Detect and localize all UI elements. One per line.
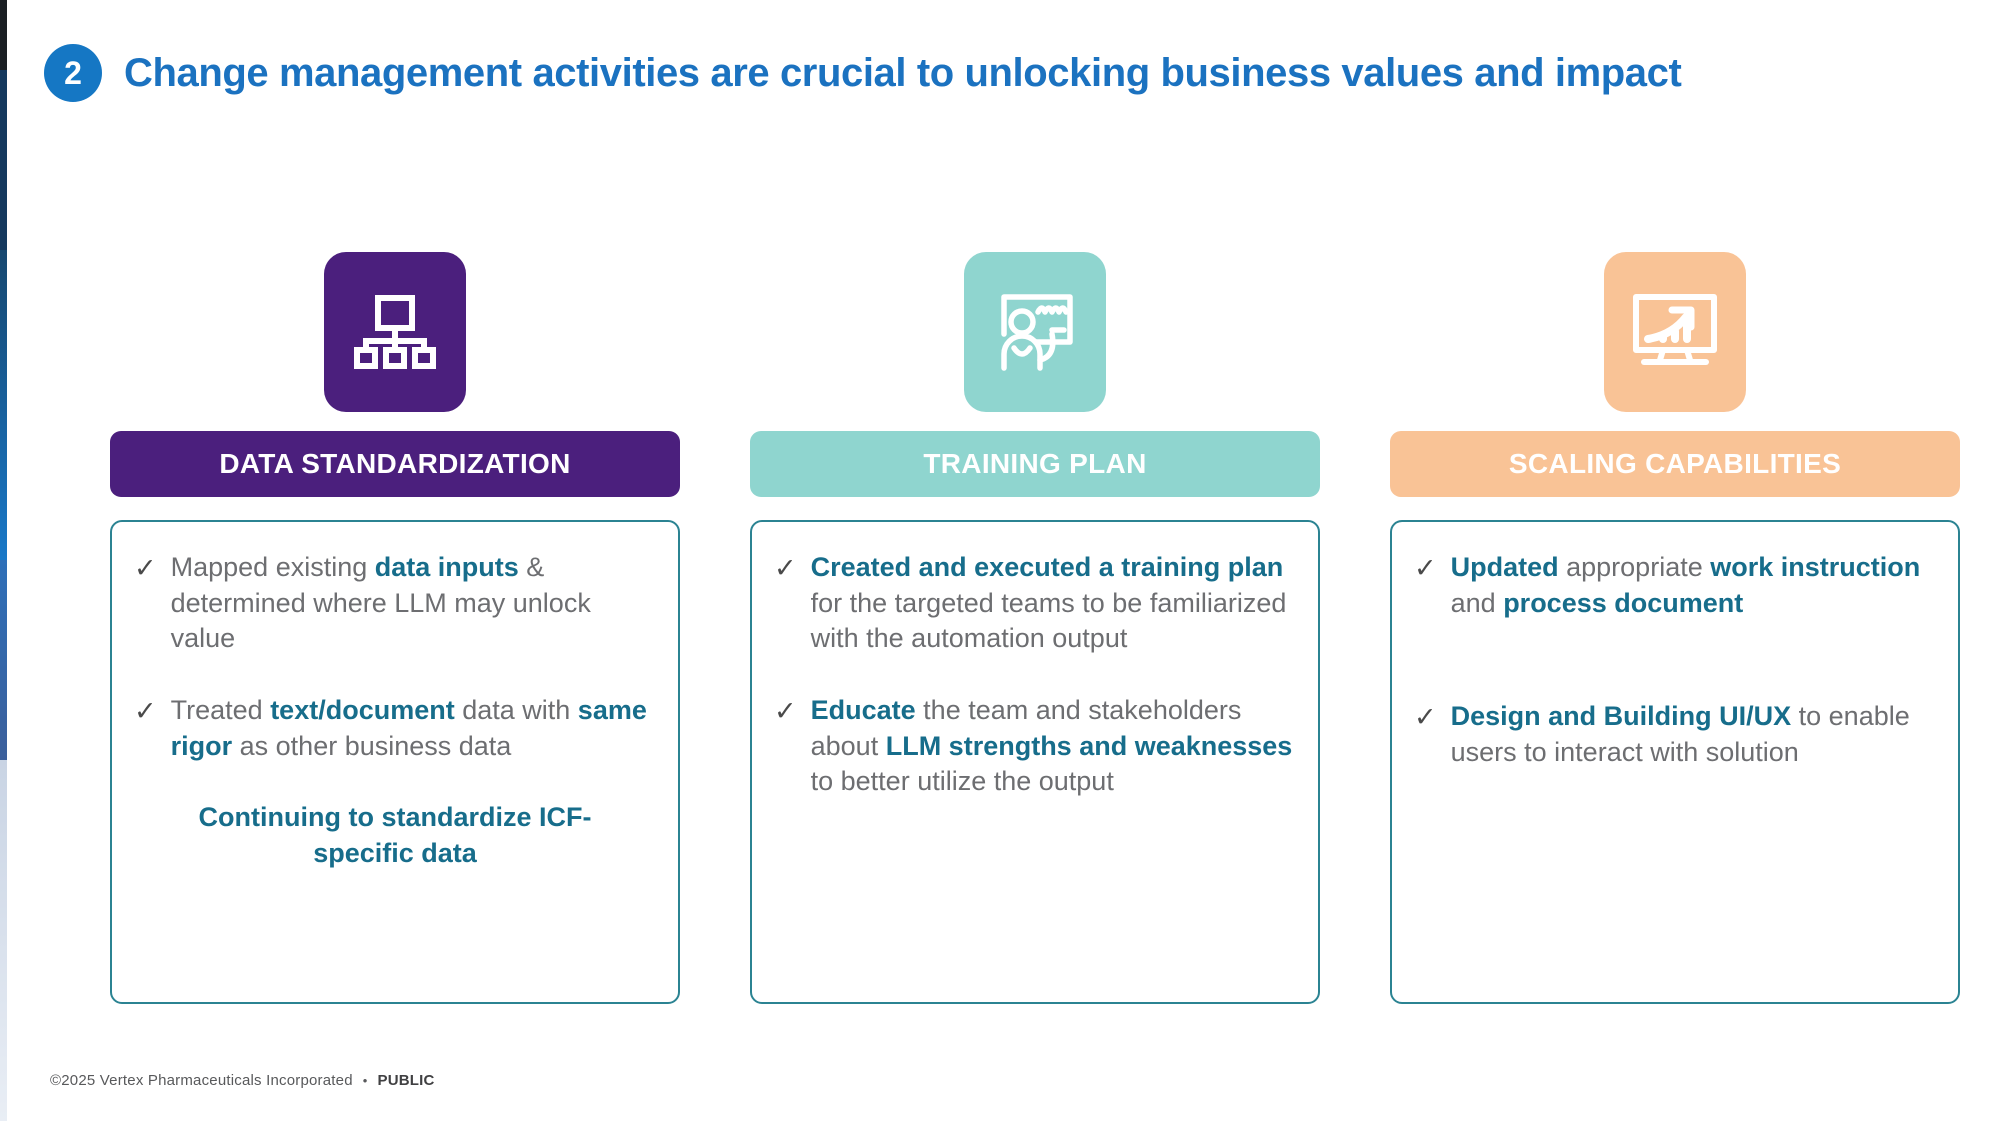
slide-canvas: 2 Change management activities are cruci… — [0, 0, 2011, 1121]
slide-edge-strip — [0, 0, 7, 1121]
pillar-data-standardization: DATA STANDARDIZATION ✓ Mapped existing d… — [110, 252, 680, 1004]
step-number-badge: 2 — [44, 44, 102, 102]
check-icon: ✓ — [134, 693, 157, 764]
band-scaling-capabilities: SCALING CAPABILITIES — [1390, 431, 1960, 497]
list-item: ✓ Design and Building UI/UX to enable us… — [1414, 699, 1936, 770]
icon-tile-data-standardization — [324, 252, 466, 412]
band-data-standardization: DATA STANDARDIZATION — [110, 431, 680, 497]
band-training-plan: TRAINING PLAN — [750, 431, 1320, 497]
list-item: ✓ Updated appropriate work instruction a… — [1414, 550, 1936, 621]
list-item-text: Treated text/document data with same rig… — [171, 693, 656, 764]
list-item: ✓ Mapped existing data inputs & determin… — [134, 550, 656, 657]
check-icon: ✓ — [1414, 699, 1437, 770]
hierarchy-icon — [352, 292, 438, 372]
icon-tile-scaling-capabilities — [1604, 252, 1746, 412]
pillar-training-plan: TRAINING PLAN ✓ Created and executed a t… — [750, 252, 1320, 1004]
card-data-standardization: ✓ Mapped existing data inputs & determin… — [110, 520, 680, 1004]
growth-monitor-icon — [1629, 291, 1721, 373]
list-item: ✓ Created and executed a training plan f… — [774, 550, 1296, 657]
list-item: ✓ Treated text/document data with same r… — [134, 693, 656, 764]
check-icon: ✓ — [774, 550, 797, 657]
list-item-text: Educate the team and stakeholders about … — [811, 693, 1296, 800]
trainer-whiteboard-icon — [992, 290, 1078, 374]
card-scaling-capabilities: ✓ Updated appropriate work instruction a… — [1390, 520, 1960, 1004]
pillar-columns: DATA STANDARDIZATION ✓ Mapped existing d… — [110, 252, 1960, 1004]
footer-classification: PUBLIC — [378, 1072, 435, 1089]
slide-header: 2 Change management activities are cruci… — [44, 44, 1681, 102]
pillar-scaling-capabilities: SCALING CAPABILITIES ✓ Updated appropria… — [1390, 252, 1960, 1004]
check-icon: ✓ — [774, 693, 797, 800]
list-item-text: Updated appropriate work instruction and… — [1451, 550, 1936, 621]
page-title: Change management activities are crucial… — [124, 51, 1681, 96]
list-item-text: Design and Building UI/UX to enable user… — [1451, 699, 1936, 770]
icon-tile-training-plan — [964, 252, 1106, 412]
footer-copyright: ©2025 Vertex Pharmaceuticals Incorporate… — [50, 1072, 353, 1089]
list-item: ✓ Educate the team and stakeholders abou… — [774, 693, 1296, 800]
slide-footer: ©2025 Vertex Pharmaceuticals Incorporate… — [50, 1072, 435, 1089]
footnote-data-standardization: Continuing to standardize ICF-specific d… — [134, 800, 656, 871]
list-item-text: Created and executed a training plan for… — [811, 550, 1296, 657]
card-training-plan: ✓ Created and executed a training plan f… — [750, 520, 1320, 1004]
footer-separator: • — [363, 1073, 368, 1088]
check-icon: ✓ — [1414, 550, 1437, 621]
list-item-text: Mapped existing data inputs & determined… — [171, 550, 656, 657]
check-icon: ✓ — [134, 550, 157, 657]
